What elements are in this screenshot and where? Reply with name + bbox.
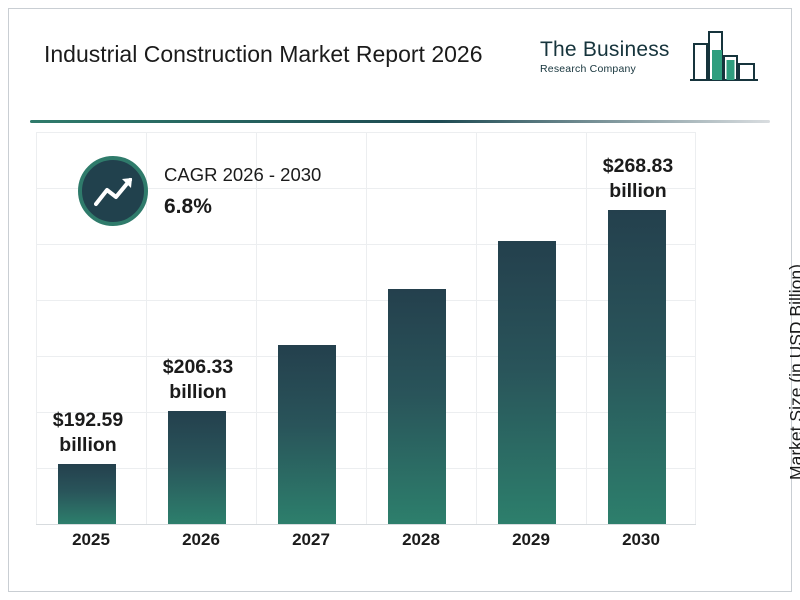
x-axis-label-2029: 2029 bbox=[476, 530, 586, 550]
bar-label-2025: $192.59 billion bbox=[23, 408, 153, 458]
bar-label-line2: billion bbox=[23, 433, 153, 458]
x-axis-label-2030: 2030 bbox=[586, 530, 696, 550]
logo-line-2: Research Company bbox=[540, 63, 680, 75]
page-title: Industrial Construction Market Report 20… bbox=[44, 38, 544, 71]
chart-page: Industrial Construction Market Report 20… bbox=[0, 0, 800, 600]
bar-group-2030: $268.83 billion bbox=[586, 132, 696, 524]
header-divider bbox=[30, 120, 770, 123]
bar-2026[interactable] bbox=[168, 411, 226, 524]
bar-2028[interactable] bbox=[388, 289, 446, 524]
bar-label-line2: billion bbox=[133, 380, 263, 405]
cagr-range-label: CAGR 2026 - 2030 bbox=[164, 164, 321, 186]
x-axis-label-2027: 2027 bbox=[256, 530, 366, 550]
bar-2027[interactable] bbox=[278, 345, 336, 524]
bar-label-line1: $268.83 bbox=[573, 154, 703, 179]
logo-wordmark: The Business Research Company bbox=[540, 38, 680, 75]
bar-label-line2: billion bbox=[573, 179, 703, 204]
bar-label-2030: $268.83 billion bbox=[573, 154, 703, 204]
header-divider-bar bbox=[30, 120, 770, 123]
x-axis-label-2025: 2025 bbox=[36, 530, 146, 550]
x-axis-labels: 2025 2026 2027 2028 2029 2030 bbox=[36, 530, 696, 560]
x-axis-label-2026: 2026 bbox=[146, 530, 256, 550]
y-axis-title: Market Size (in USD Billion) bbox=[786, 222, 800, 522]
trend-up-icon bbox=[78, 156, 148, 226]
company-logo: The Business Research Company bbox=[540, 30, 760, 100]
cagr-value: 6.8% bbox=[164, 195, 321, 219]
bar-label-2026: $206.33 billion bbox=[133, 355, 263, 405]
bar-2030[interactable] bbox=[608, 210, 666, 524]
bar-2029[interactable] bbox=[498, 241, 556, 524]
bar-2025[interactable] bbox=[58, 464, 116, 524]
cagr-text-block: CAGR 2026 - 2030 6.8% bbox=[164, 164, 321, 219]
logo-line-1: The Business bbox=[540, 38, 680, 62]
bar-group-2029 bbox=[476, 132, 586, 524]
bar-chart-logo-mark-icon bbox=[688, 30, 760, 82]
x-axis-line bbox=[36, 524, 696, 525]
bar-label-line1: $206.33 bbox=[133, 355, 263, 380]
cagr-callout: CAGR 2026 - 2030 6.8% bbox=[78, 156, 408, 232]
bar-label-line1: $192.59 bbox=[23, 408, 153, 433]
x-axis-label-2028: 2028 bbox=[366, 530, 476, 550]
